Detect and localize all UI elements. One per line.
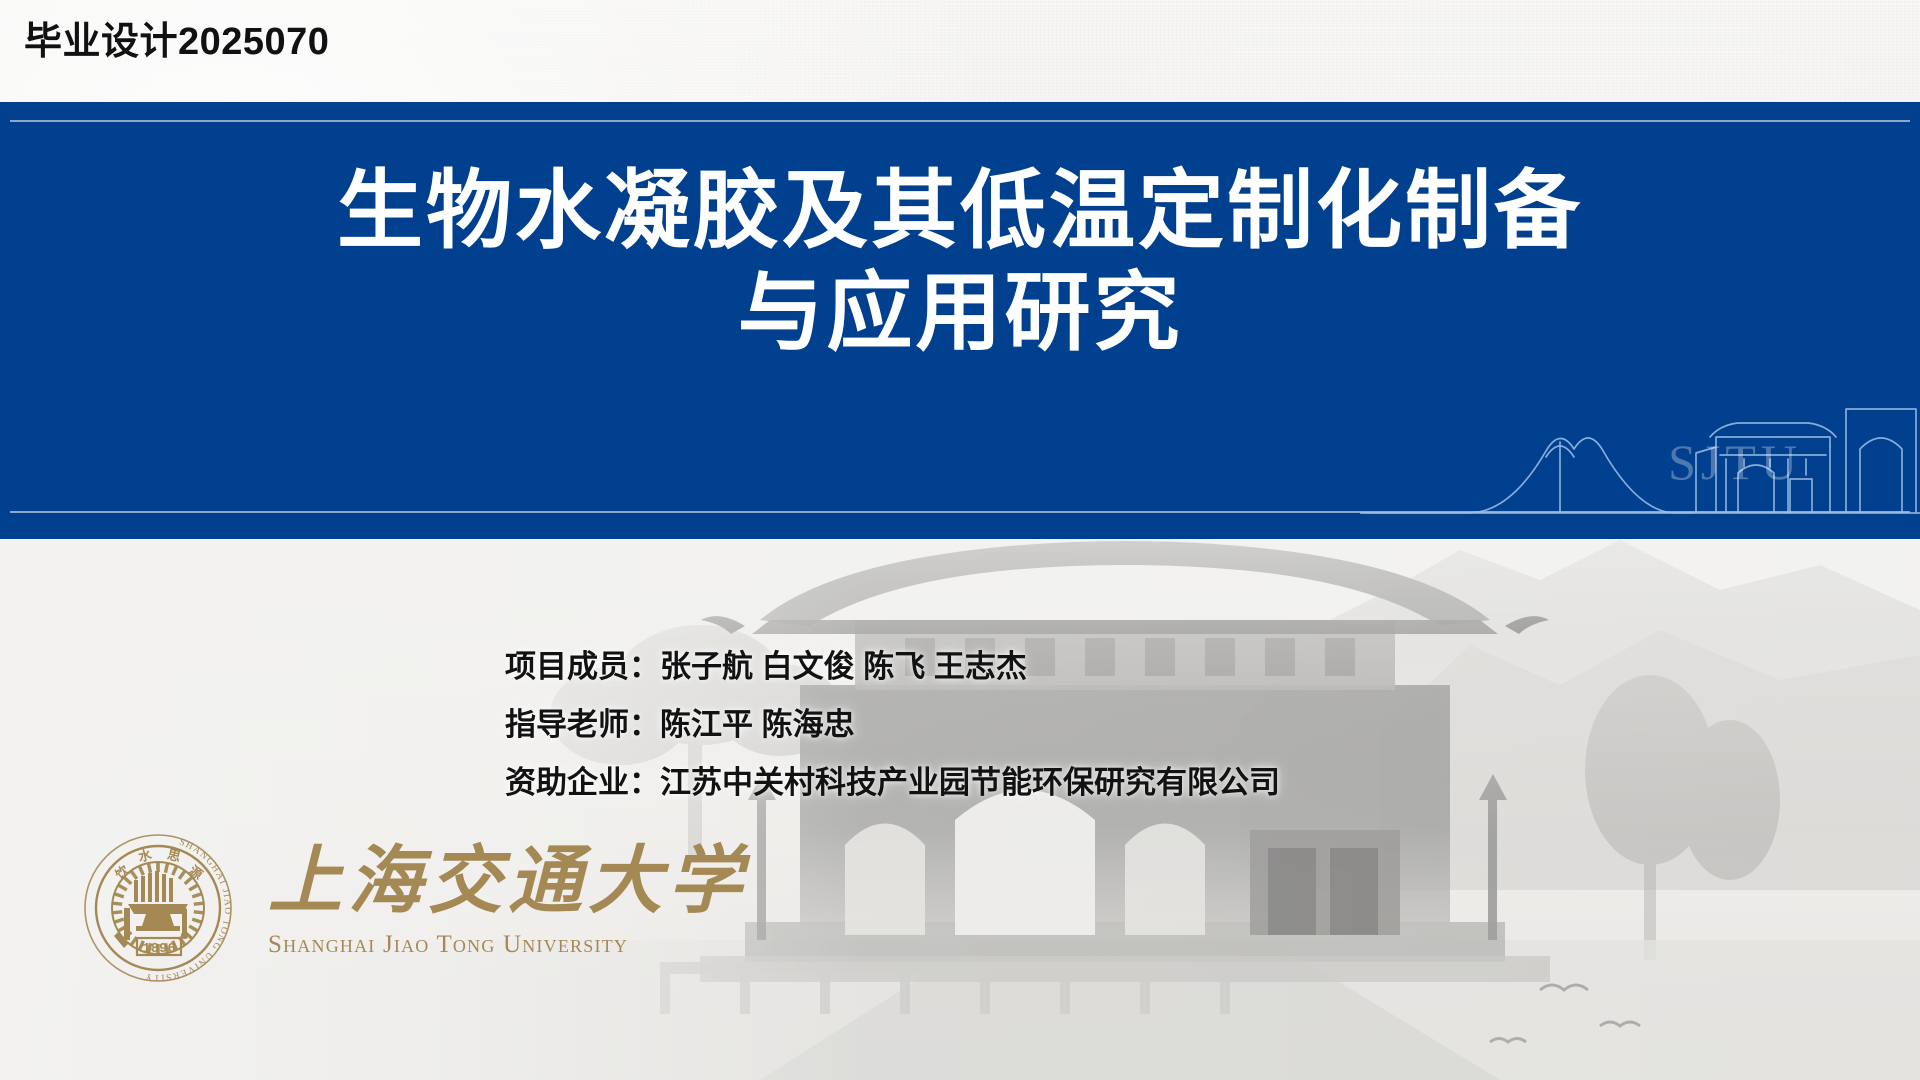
sjtu-seal-icon: 1896 饮 水 思 源 SHANGHAI JIAO TONG UNIVERSI… [78,828,238,988]
info-line-advisors: 指导老师：陈江平 陈海忠 [505,696,1280,754]
banner-rule-top [10,120,1910,122]
info-line-members: 项目成员：张子航 白文俊 陈飞 王志杰 [505,638,1280,696]
sjtu-watermark-text: SJTU [1668,433,1802,491]
title-line-1: 生物水凝胶及其低温定制化制备 [0,160,1920,262]
title-banner: SJTU 生物水凝胶及其低温定制化制备 与应用研究 [0,102,1920,539]
slide-header: 毕业设计2025070 [0,0,1920,100]
sjtu-wordmark: 上海交通大学 Shanghai Jiao Tong University [268,836,708,962]
slide-title: 生物水凝胶及其低温定制化制备 与应用研究 [0,160,1920,364]
title-line-2: 与应用研究 [0,262,1920,364]
seal-year-text: 1896 [142,941,176,957]
project-info-block: 项目成员：张子航 白文俊 陈飞 王志杰 指导老师：陈江平 陈海忠 资助企业：江苏… [505,638,1280,812]
info-line-sponsor: 资助企业：江苏中关村科技产业园节能环保研究有限公司 [505,754,1280,812]
sjtu-gate-lineart-icon [1360,387,1920,517]
sjtu-wordmark-english: Shanghai Jiao Tong University [268,928,708,962]
presentation-slide: 毕业设计2025070 [0,0,1920,1080]
sjtu-logo-lockup: 1896 饮 水 思 源 SHANGHAI JIAO TONG UNIVERSI… [78,828,718,1013]
svg-text:思: 思 [166,847,182,865]
sjtu-wordmark-chinese: 上海交通大学 [268,836,708,928]
project-number-title: 毕业设计2025070 [24,10,329,65]
